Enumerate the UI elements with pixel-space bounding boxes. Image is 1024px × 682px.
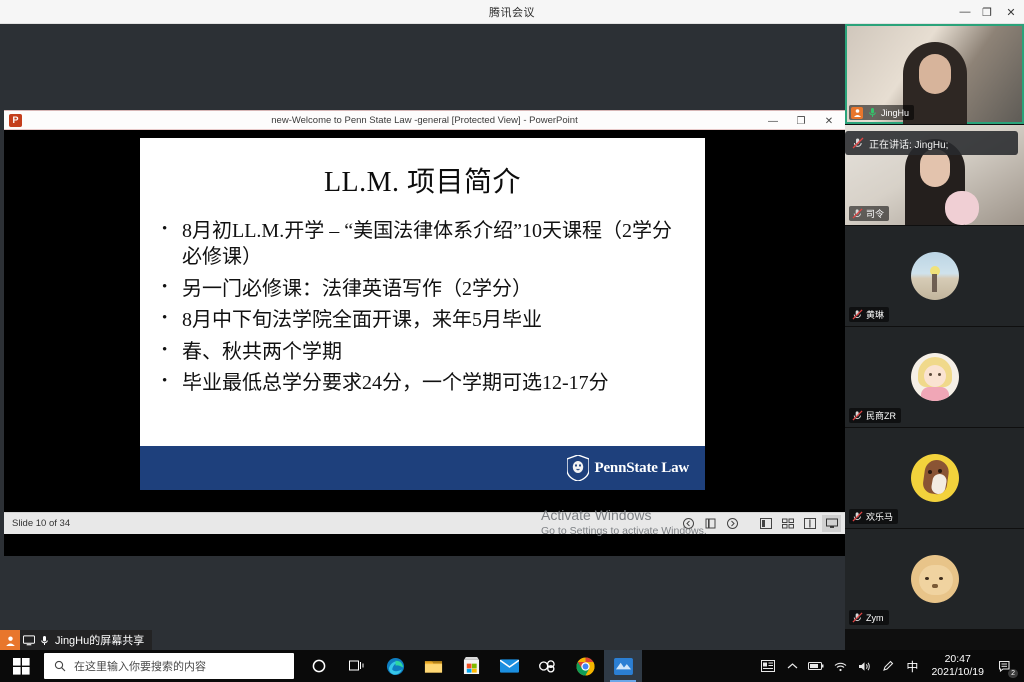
chrome-icon[interactable]: [566, 650, 604, 682]
powerpoint-slide-canvas: LL.M. 项目简介 • 8月初LL.M.开学 – “美国法律体系介绍”10天课…: [4, 130, 845, 534]
participant-tile[interactable]: 欢乐马: [845, 428, 1024, 528]
avatar: [911, 555, 959, 603]
participant-name-badge: 欢乐马: [849, 509, 898, 524]
avatar: [911, 353, 959, 401]
powerpoint-maximize-button[interactable]: ❐: [787, 111, 815, 131]
windows-taskbar: 在这里输入你要搜索的内容: [0, 650, 1024, 682]
bullet-marker-icon: •: [162, 218, 182, 271]
participant-tile[interactable]: Zym: [845, 529, 1024, 629]
maximize-button[interactable]: ❐: [976, 0, 998, 24]
clock[interactable]: 20:47 2021/10/19: [925, 653, 990, 679]
screen-share-badge: JingHu的屏幕共享: [0, 630, 152, 650]
microphone-muted-icon: [851, 309, 863, 321]
close-button[interactable]: ✕: [998, 0, 1024, 24]
participant-tile[interactable]: 黄琳: [845, 226, 1024, 326]
task-view-icon[interactable]: [338, 650, 376, 682]
reading-view-icon[interactable]: [800, 515, 819, 532]
avatar: [911, 454, 959, 502]
powerpoint-close-button[interactable]: ✕: [815, 111, 843, 131]
app-title: 腾讯会议: [489, 4, 535, 20]
list-item: • 春、秋共两个学期: [162, 339, 683, 365]
clock-date: 2021/10/19: [931, 666, 984, 679]
shield-icon: [567, 455, 589, 481]
powerpoint-view-controls: [679, 515, 841, 532]
participant-tile[interactable]: JingHu: [845, 24, 1024, 124]
microphone-muted-icon: [851, 208, 863, 220]
participant-name-badge: 民商ZR: [849, 408, 901, 423]
participant-name-badge: JingHu: [849, 105, 914, 120]
participant-name: 民商ZR: [866, 409, 896, 422]
cloud-app-icon[interactable]: [528, 650, 566, 682]
previous-slide-icon[interactable]: [679, 515, 698, 532]
powerpoint-status-bar: Slide 10 of 34: [4, 512, 845, 534]
search-icon: [54, 660, 66, 672]
slide-title: LL.M. 项目简介: [140, 160, 705, 200]
chevron-up-icon[interactable]: [781, 650, 803, 682]
powerpoint-window: P new-Welcome to Penn State Law -general…: [4, 110, 845, 556]
normal-view-icon[interactable]: [756, 515, 775, 532]
volume-icon[interactable]: [853, 650, 875, 682]
microphone-muted-icon: [851, 511, 863, 523]
annotation-icon[interactable]: [701, 515, 720, 532]
slideshow-view-icon[interactable]: [822, 515, 841, 532]
powerpoint-icon: P: [9, 114, 22, 127]
window-controls: — ❐ ✕: [954, 0, 1024, 24]
screen-root: 腾讯会议 — ❐ ✕ P new-Welcome to Penn State L…: [0, 0, 1024, 682]
bullet-marker-icon: •: [162, 370, 182, 396]
list-item: • 8月中下旬法学院全面开课，来年5月毕业: [162, 307, 683, 333]
slide-sorter-icon[interactable]: [778, 515, 797, 532]
minimize-button[interactable]: —: [954, 0, 976, 24]
participant-name-badge: 黄琳: [849, 307, 889, 322]
powerpoint-minimize-button[interactable]: —: [759, 111, 787, 131]
app-titlebar: 腾讯会议 — ❐ ✕: [0, 0, 1024, 24]
participant-name: 黄琳: [866, 308, 884, 321]
search-input[interactable]: 在这里输入你要搜索的内容: [44, 653, 294, 679]
clock-time: 20:47: [931, 653, 984, 666]
cortana-icon[interactable]: [300, 650, 338, 682]
penn-state-law-wordmark: PennState Law: [595, 460, 689, 477]
file-explorer-icon[interactable]: [414, 650, 452, 682]
microphone-speaking-icon: [852, 137, 864, 149]
speaking-indicator: 正在讲话: JingHu;: [845, 131, 1018, 155]
participant-name: Zym: [866, 613, 884, 623]
participant-name: 欢乐马: [866, 510, 893, 523]
next-slide-icon[interactable]: [723, 515, 742, 532]
screen-share-icon: [23, 634, 35, 646]
list-item-label: 另一门必修课：法律英语写作（2学分）: [182, 276, 683, 302]
screen-share-label: JingHu的屏幕共享: [55, 632, 144, 648]
avatar: [911, 252, 959, 300]
bullet-marker-icon: •: [162, 339, 182, 365]
microphone-muted-icon: [851, 410, 863, 422]
slide: LL.M. 项目简介 • 8月初LL.M.开学 – “美国法律体系介绍”10天课…: [140, 138, 705, 490]
action-center-icon[interactable]: 2: [992, 650, 1020, 682]
participant-name: 司令: [866, 207, 884, 220]
slide-footer: PennState Law: [140, 446, 705, 490]
microsoft-store-icon[interactable]: [452, 650, 490, 682]
slide-bullet-list: • 8月初LL.M.开学 – “美国法律体系介绍”10天课程（2学分必修课） •…: [162, 218, 683, 396]
participant-video-strip: JingHu 正在讲话: JingHu; 司令: [845, 24, 1024, 650]
mail-icon[interactable]: [490, 650, 528, 682]
list-item-label: 8月中下旬法学院全面开课，来年5月毕业: [182, 307, 683, 333]
list-item: • 毕业最低总学分要求24分，一个学期可选12-17分: [162, 370, 683, 396]
shared-screen-area: P new-Welcome to Penn State Law -general…: [0, 24, 845, 650]
bullet-marker-icon: •: [162, 307, 182, 333]
battery-icon[interactable]: [805, 650, 827, 682]
penn-state-law-logo: PennState Law: [567, 455, 689, 481]
participant-tile[interactable]: 民商ZR: [845, 327, 1024, 427]
participant-name: JingHu: [881, 108, 909, 118]
system-tray: 中 20:47 2021/10/19 2: [757, 650, 1024, 682]
host-badge-icon: [0, 630, 20, 650]
search-placeholder: 在这里输入你要搜索的内容: [74, 658, 206, 674]
network-icon[interactable]: [829, 650, 851, 682]
slide-counter: Slide 10 of 34: [12, 518, 70, 529]
start-icon[interactable]: [0, 650, 42, 682]
powerpoint-titlebar: P new-Welcome to Penn State Law -general…: [4, 110, 845, 130]
host-badge-icon: [851, 107, 863, 119]
ime-indicator[interactable]: 中: [901, 650, 923, 682]
powerpoint-window-controls: — ❐ ✕: [759, 111, 843, 131]
notification-count: 2: [1008, 669, 1018, 678]
microphone-on-icon: [38, 634, 50, 646]
list-item-label: 毕业最低总学分要求24分，一个学期可选12-17分: [182, 370, 683, 396]
speaking-indicator-label: 正在讲话: JingHu;: [869, 136, 948, 151]
bullet-marker-icon: •: [162, 276, 182, 302]
list-item: • 另一门必修课：法律英语写作（2学分）: [162, 276, 683, 302]
action-center-left-icon[interactable]: [757, 650, 779, 682]
microphone-on-icon: [866, 107, 878, 119]
microphone-muted-icon: [851, 612, 863, 624]
taskbar-icons: [300, 650, 642, 682]
powerpoint-title: new-Welcome to Penn State Law -general […: [4, 115, 845, 126]
participant-name-badge: Zym: [849, 610, 889, 625]
edge-icon[interactable]: [376, 650, 414, 682]
list-item-label: 8月初LL.M.开学 – “美国法律体系介绍”10天课程（2学分必修课）: [182, 218, 683, 271]
tencent-meeting-icon[interactable]: [604, 650, 642, 682]
list-item-label: 春、秋共两个学期: [182, 339, 683, 365]
participant-name-badge: 司令: [849, 206, 889, 221]
list-item: • 8月初LL.M.开学 – “美国法律体系介绍”10天课程（2学分必修课）: [162, 218, 683, 271]
pen-input-icon[interactable]: [877, 650, 899, 682]
